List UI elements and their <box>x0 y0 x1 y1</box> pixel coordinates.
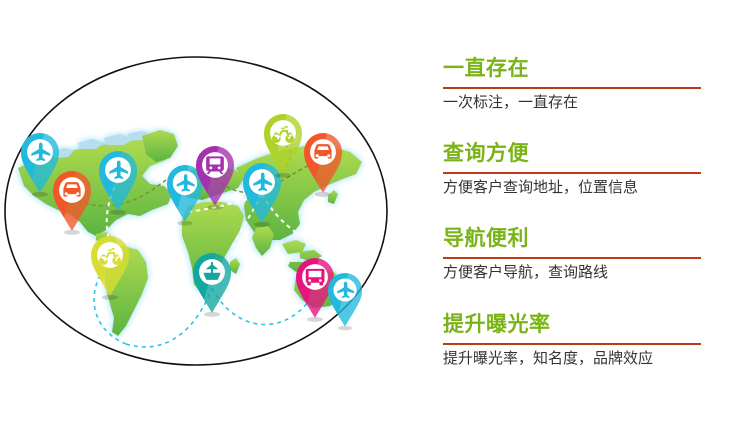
infographic-root: 一直存在 一次标注，一直存在 查询方便 方便客户查询地址，位置信息 导航便利 方… <box>0 0 748 441</box>
feature-title: 一直存在 <box>443 55 705 83</box>
feature-underline <box>443 87 701 89</box>
feature-list: 一直存在 一次标注，一直存在 查询方便 方便客户查询地址，位置信息 导航便利 方… <box>443 0 743 441</box>
feature-underline <box>443 172 701 174</box>
feature-item-3: 导航便利 方便客户导航，查询路线 <box>443 225 705 284</box>
feature-description: 方便客户查询地址，位置信息 <box>443 177 705 199</box>
feature-underline <box>443 343 701 345</box>
world-map-illustration <box>0 0 420 441</box>
feature-description: 一次标注，一直存在 <box>443 92 705 114</box>
feature-title: 导航便利 <box>443 225 705 253</box>
world-map-svg <box>0 0 420 441</box>
feature-item-1: 一直存在 一次标注，一直存在 <box>443 55 705 114</box>
feature-item-4: 提升曝光率 提升曝光率，知名度，品牌效应 <box>443 311 705 370</box>
feature-description: 方便客户导航，查询路线 <box>443 262 705 284</box>
feature-underline <box>443 257 701 259</box>
map-pin[interactable] <box>328 273 362 330</box>
feature-description: 提升曝光率，知名度，品牌效应 <box>443 348 705 370</box>
feature-title: 查询方便 <box>443 140 705 168</box>
feature-item-2: 查询方便 方便客户查询地址，位置信息 <box>443 140 705 199</box>
feature-title: 提升曝光率 <box>443 311 705 339</box>
